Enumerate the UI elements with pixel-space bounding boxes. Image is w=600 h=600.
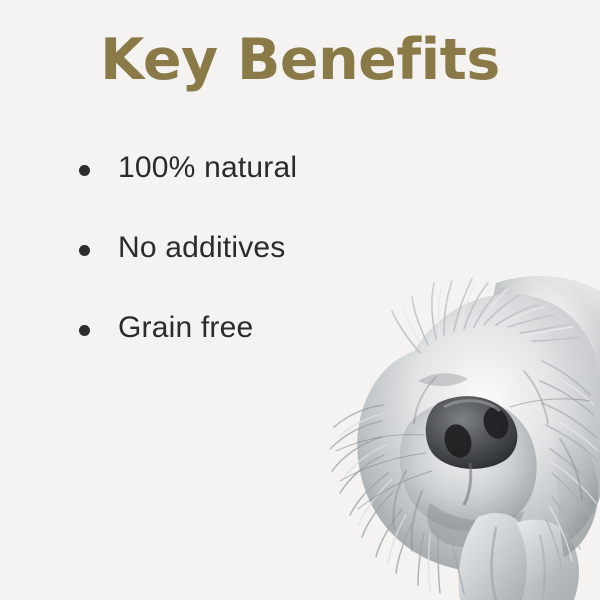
bullet-icon	[79, 245, 90, 256]
list-item: No additives	[72, 228, 402, 308]
benefit-label: 100% natural	[118, 148, 297, 188]
bullet-icon	[79, 165, 90, 176]
bullet-icon	[79, 325, 90, 336]
benefit-label: No additives	[118, 228, 286, 268]
benefits-list: 100% natural No additives Grain free	[72, 148, 402, 388]
benefit-label: Grain free	[118, 308, 253, 348]
page-title: Key Benefits	[0, 32, 600, 89]
list-item: Grain free	[72, 308, 402, 388]
key-benefits-card: Key Benefits 100% natural No additives G…	[0, 0, 600, 600]
list-item: 100% natural	[72, 148, 402, 228]
